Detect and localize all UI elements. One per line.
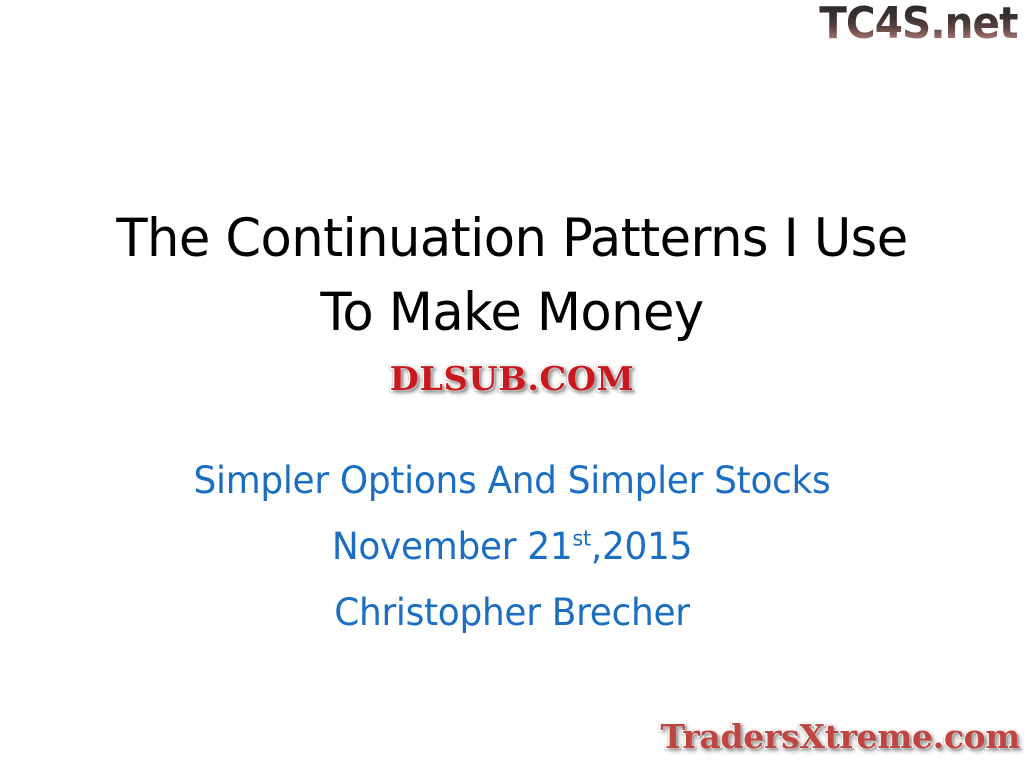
tradersxtreme-watermark-text: TradersXtreme.com (660, 717, 1020, 756)
presentation-slide: TC4S.net The Continuation Patterns I Use… (0, 0, 1024, 768)
tc4s-watermark: TC4S.net (820, 2, 1018, 46)
date-year: ,2015 (591, 525, 692, 568)
title-line-1: The Continuation Patterns I Use (18, 202, 1006, 276)
date-ordinal-suffix: st (572, 527, 590, 552)
dlsub-watermark-text: DLSUB.COM (390, 359, 635, 398)
subtitle-presenter: Christopher Brecher (15, 580, 1008, 646)
subtitle-organization: Simpler Options And Simpler Stocks (15, 448, 1008, 514)
title-line-2: To Make Money (18, 276, 1006, 350)
dlsub-watermark: DLSUB.COM (382, 358, 643, 402)
tradersxtreme-watermark: TradersXtreme.com (660, 718, 1020, 756)
subtitle-group: Simpler Options And Simpler Stocks Novem… (15, 448, 1008, 646)
subtitle-date: November 21st,2015 (15, 514, 1008, 580)
date-prefix: November 21 (332, 525, 573, 568)
page-title: The Continuation Patterns I Use To Make … (18, 202, 1006, 350)
